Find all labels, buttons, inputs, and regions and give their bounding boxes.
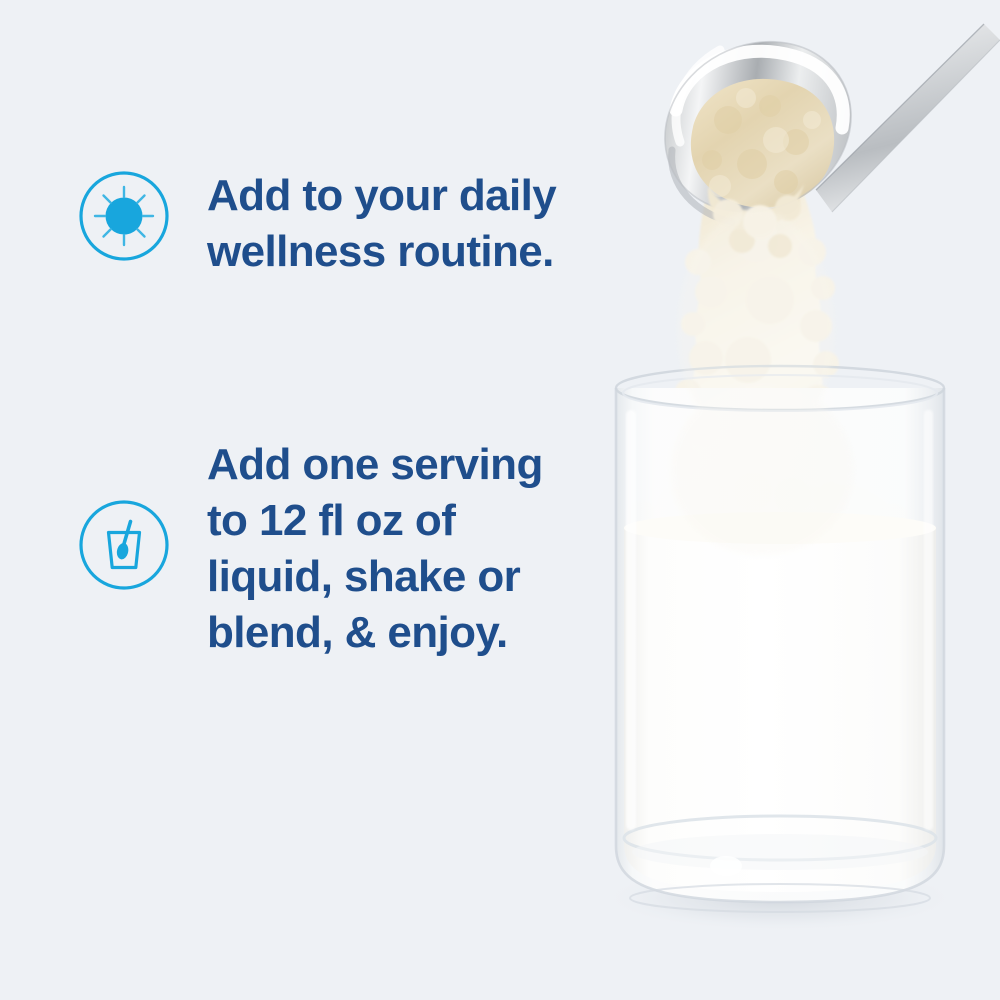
instruction-step-1: Add to your daily wellness routine. [78,168,556,280]
instruction-step-2-text: Add one serving to 12 fl oz of liquid, s… [207,437,543,661]
sun-icon [78,170,170,262]
instruction-step-1-text: Add to your daily wellness routine. [207,168,556,280]
glass-with-spoon-icon [78,499,170,591]
promo-graphic: Add to your daily wellness routine. Add … [0,0,1000,1000]
instructions-panel: Add to your daily wellness routine. Add … [0,0,600,1000]
instruction-step-2: Add one serving to 12 fl oz of liquid, s… [78,437,543,661]
product-photo [580,0,1000,1000]
